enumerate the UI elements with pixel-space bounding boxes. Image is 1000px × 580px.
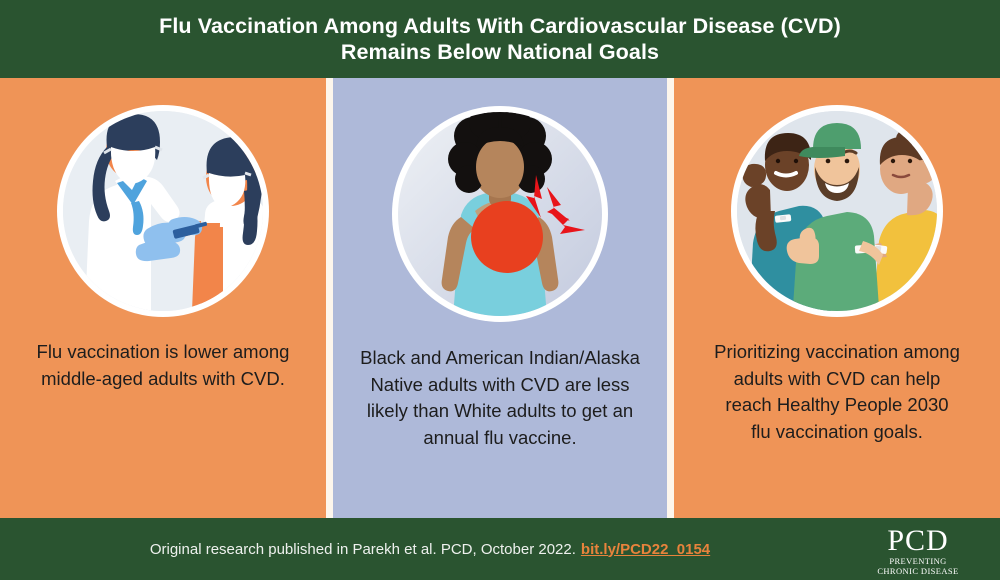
panel-caption: Flu vaccination is lower among middle-ag… — [18, 339, 308, 392]
title-line-2: Remains Below National Goals — [159, 39, 841, 65]
caption-line: middle-aged adults with CVD. — [18, 366, 308, 393]
attribution-text: Original research published in Parekh et… — [150, 541, 576, 558]
panel-row: Flu vaccination is lower among middle-ag… — [0, 78, 1000, 518]
page-title: Flu Vaccination Among Adults With Cardio… — [159, 13, 841, 65]
panel-vaccination: Flu vaccination is lower among middle-ag… — [0, 78, 326, 518]
pcd-logo-subtitle-line-2: CHRONIC DISEASE — [877, 567, 958, 577]
caption-line: reach Healthy People 2030 — [692, 392, 982, 419]
caption-line: adults with CVD can help — [692, 366, 982, 393]
caption-line: Prioritizing vaccination among — [692, 339, 982, 366]
panel-caption: Black and American Indian/Alaska Native … — [350, 345, 650, 451]
woman-with-chest-pain-illustration — [389, 103, 611, 325]
nurse-vaccinating-patient-illustration — [55, 103, 271, 319]
panel-divider — [326, 78, 333, 518]
panel-divider — [667, 78, 674, 518]
pcd-logo: PCD PREVENTING CHRONIC DISEASE — [858, 528, 978, 574]
panel-goals: Prioritizing vaccination among adults wi… — [674, 78, 1000, 518]
title-line-1: Flu Vaccination Among Adults With Cardio… — [159, 13, 841, 39]
caption-line: annual flu vaccine. — [350, 425, 650, 452]
footer-banner: Original research published in Parekh et… — [0, 518, 1000, 580]
three-vaccinated-adults-flexing-illustration — [729, 103, 945, 319]
panel-caption: Prioritizing vaccination among adults wi… — [692, 339, 982, 445]
footer-attribution: Original research published in Parekh et… — [0, 518, 860, 580]
caption-line: Native adults with CVD are less — [350, 372, 650, 399]
caption-line: Black and American Indian/Alaska — [350, 345, 650, 372]
source-link[interactable]: bit.ly/PCD22_0154 — [581, 541, 710, 558]
pcd-logo-acronym: PCD — [887, 526, 948, 555]
caption-line: flu vaccination goals. — [692, 419, 982, 446]
header-banner: Flu Vaccination Among Adults With Cardio… — [0, 0, 1000, 78]
caption-line: Flu vaccination is lower among — [18, 339, 308, 366]
panel-disparities: Black and American Indian/Alaska Native … — [333, 78, 667, 518]
pcd-logo-subtitle: PREVENTING CHRONIC DISEASE — [877, 557, 958, 576]
caption-line: likely than White adults to get an — [350, 398, 650, 425]
infographic-root: Flu Vaccination Among Adults With Cardio… — [0, 0, 1000, 580]
